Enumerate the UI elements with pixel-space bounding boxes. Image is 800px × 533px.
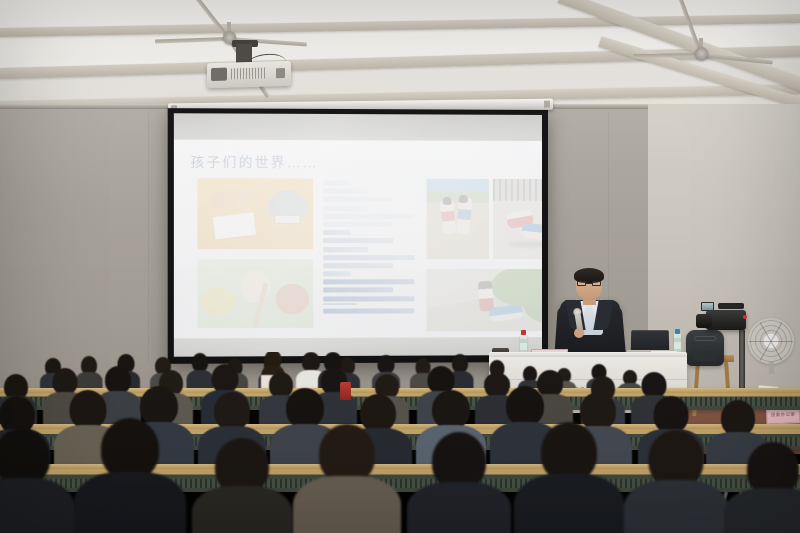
ceiling-projector (207, 61, 291, 88)
slide-text-line (323, 247, 368, 252)
audience-member (0, 428, 70, 533)
slide-text-line (323, 288, 393, 293)
photo-boys-ground (493, 179, 542, 259)
lecture-hall-photo: 孩子们的世界…… (0, 0, 800, 533)
audience-member (298, 424, 396, 533)
slide-text-line (323, 222, 393, 227)
slide-body (190, 178, 526, 336)
audience-member (196, 438, 288, 533)
slide-text-block (323, 181, 420, 318)
slide-text-line (323, 197, 393, 202)
camera-lens (696, 314, 712, 328)
child-figure (506, 209, 534, 229)
audience-member (412, 432, 506, 533)
projector-panel (276, 68, 285, 78)
bottle-label (520, 343, 527, 350)
camera-body (706, 310, 746, 330)
wall-joint (148, 112, 149, 362)
bottle-cap (521, 330, 526, 335)
child-figure (521, 222, 542, 240)
child-hair (442, 196, 451, 204)
audience (0, 352, 800, 533)
screen-surface: 孩子们的世界…… (174, 113, 542, 356)
ceiling-fan-left (228, 36, 230, 38)
slide-text-line (323, 205, 368, 210)
photo-girls-fighting (427, 179, 489, 259)
slide-text-line (323, 238, 393, 243)
slide-text-line (323, 255, 414, 260)
audience-member (728, 442, 800, 533)
eyeglasses-icon (577, 281, 601, 286)
fan-hub (695, 47, 708, 60)
slide-text-underline (323, 303, 356, 305)
slide-title: 孩子们的世界…… (190, 151, 526, 172)
slide-text-line (323, 181, 350, 186)
presentation-slide: 孩子们的世界…… (174, 140, 542, 351)
cartoon-wolf-slide-image (198, 178, 314, 249)
cartoon-stick (252, 283, 268, 327)
ground-shadow (507, 241, 542, 248)
child-figure (440, 199, 457, 234)
camera-rec-indicator (743, 315, 747, 319)
child-figure (477, 281, 493, 312)
audience-member (80, 418, 180, 533)
projector-lens (211, 68, 227, 81)
child-figure (456, 198, 472, 235)
slide-text-line (323, 189, 368, 194)
slide-text-line (323, 296, 414, 301)
slide-text-line (323, 214, 414, 219)
presenter-hand (574, 328, 584, 338)
child-figure (488, 304, 524, 322)
housing-cap (544, 101, 550, 108)
audience-member (520, 422, 618, 533)
projection-screen: 孩子们的世界…… (168, 108, 548, 364)
screen-unlit-band (174, 113, 542, 141)
cartoon-mouth (274, 215, 301, 224)
ceiling-fan-right (700, 52, 702, 54)
bottle-label (674, 342, 681, 349)
photo-path-fight (427, 269, 542, 331)
slide-text-line (323, 279, 414, 284)
slide-text-line (323, 263, 393, 268)
bottle-cap (675, 329, 680, 334)
laptop-screen (631, 330, 669, 351)
projector-vent (231, 68, 265, 80)
cartoon-bears-slide-image (198, 259, 314, 328)
slide-text-line (323, 230, 350, 235)
slide-text-line (323, 271, 350, 276)
slide-text-line (323, 309, 414, 314)
video-camera (696, 306, 756, 334)
cartoon-paper (213, 213, 256, 240)
child-hair (458, 195, 467, 203)
audience-member (628, 430, 724, 533)
camera-handle (718, 303, 744, 309)
